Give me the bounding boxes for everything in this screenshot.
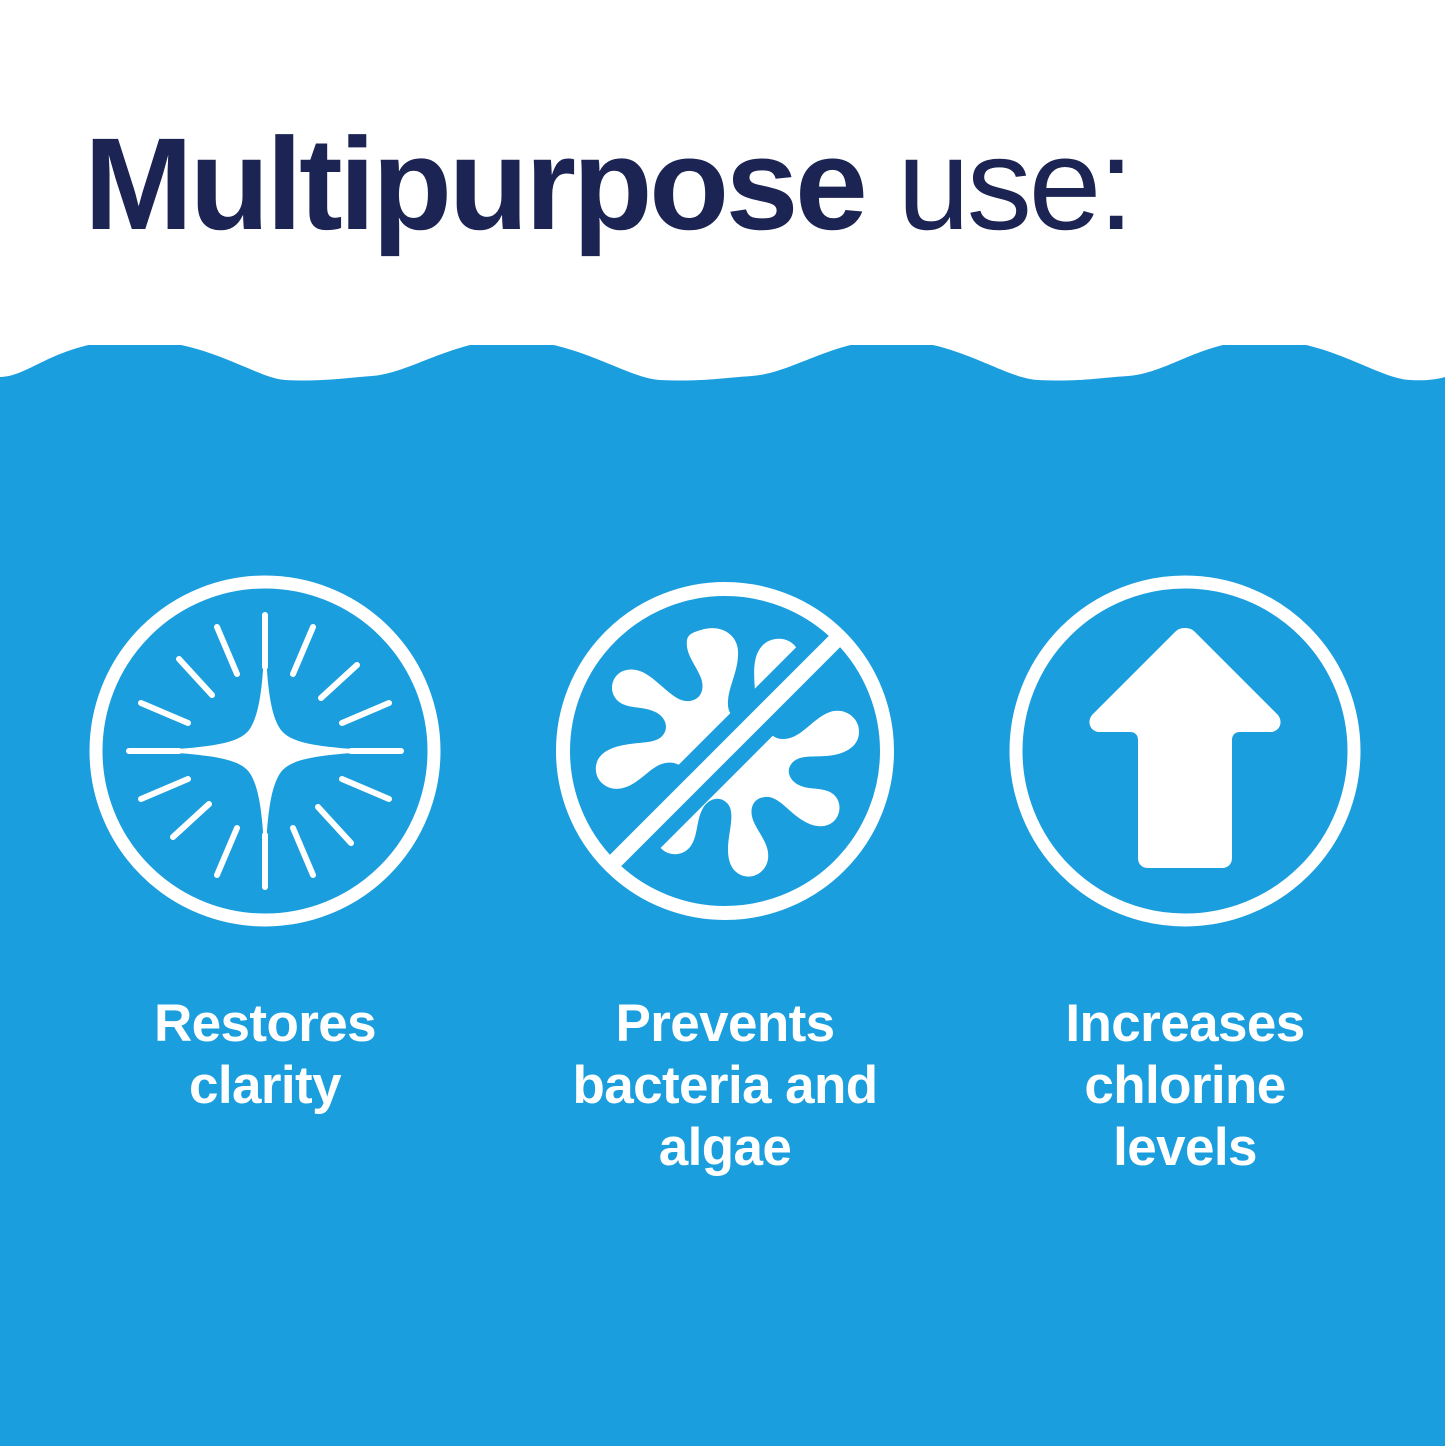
feature-item-increases-chlorine: Increases chlorine levels [955, 575, 1415, 1179]
feature-item-prevents-bacteria-algae: Prevents bacteria and algae [495, 575, 955, 1179]
feature-label: Prevents bacteria and algae [572, 993, 877, 1179]
no-bacteria-icon [549, 575, 901, 927]
feature-list: Restores clarity [0, 575, 1445, 1179]
multipurpose-use-poster: Multipurpose use: [0, 0, 1445, 1446]
page-title: Multipurpose use: [84, 118, 1131, 249]
page-title-strong: Multipurpose [84, 110, 864, 257]
sparkle-clarity-icon [89, 575, 441, 927]
page-title-light: use: [864, 110, 1131, 257]
feature-item-restores-clarity: Restores clarity [35, 575, 495, 1117]
header-band: Multipurpose use: [0, 0, 1445, 345]
feature-label: Restores clarity [154, 993, 376, 1117]
feature-label: Increases chlorine levels [1065, 993, 1304, 1179]
up-arrow-increase-icon [1009, 575, 1361, 927]
